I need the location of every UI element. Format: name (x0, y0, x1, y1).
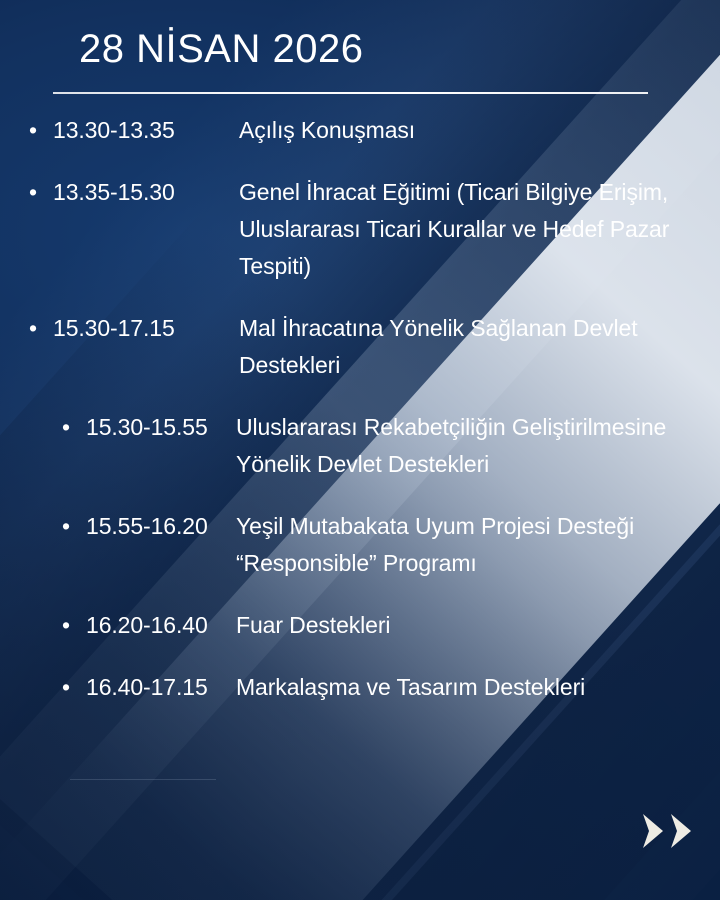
bullet-icon: • (55, 607, 77, 644)
agenda-item: • 15.30-17.15 Mal İhracatına Yönelik Sağ… (0, 310, 720, 384)
agenda-item-description: Markalaşma ve Tasarım Destekleri (236, 669, 720, 706)
agenda-item-description: Uluslararası Rekabetçiliğin Geliştirilme… (236, 409, 720, 483)
agenda-item-time: 15.55-16.20 (86, 508, 236, 545)
bullet-icon: • (55, 508, 77, 545)
double-chevron-right-icon[interactable] (639, 812, 693, 850)
agenda-item-time: 15.30-17.15 (53, 310, 239, 347)
bottom-divider-rule (70, 779, 216, 780)
agenda-item-description: Yeşil Mutabakata Uyum Projesi Desteği “R… (236, 508, 720, 582)
agenda-subitem: • 15.55-16.20 Yeşil Mutabakata Uyum Proj… (0, 508, 720, 582)
agenda-list: • 13.30-13.35 Açılış Konuşması • 13.35-1… (0, 112, 720, 728)
agenda-item-description: Genel İhracat Eğitimi (Ticari Bilgiye Er… (239, 174, 720, 285)
agenda-item-time: 13.30-13.35 (53, 112, 239, 149)
agenda-item: • 13.35-15.30 Genel İhracat Eğitimi (Tic… (0, 174, 720, 285)
bullet-icon: • (55, 669, 77, 706)
agenda-item-description: Açılış Konuşması (239, 112, 720, 149)
slide-content: 28 NİSAN 2026 • 13.30-13.35 Açılış Konuş… (0, 0, 720, 900)
bullet-icon: • (22, 112, 44, 149)
bullet-icon: • (22, 174, 44, 211)
agenda-item-time: 16.20-16.40 (86, 607, 236, 644)
agenda-item-time: 15.30-15.55 (86, 409, 236, 446)
agenda-item-description: Fuar Destekleri (236, 607, 720, 644)
presentation-slide: 28 NİSAN 2026 • 13.30-13.35 Açılış Konuş… (0, 0, 720, 900)
bullet-icon: • (55, 409, 77, 446)
agenda-subitem: • 16.20-16.40 Fuar Destekleri (0, 607, 720, 644)
agenda-item-time: 16.40-17.15 (86, 669, 236, 706)
agenda-item-time: 13.35-15.30 (53, 174, 239, 211)
agenda-subitem: • 15.30-15.55 Uluslararası Rekabetçiliği… (0, 409, 720, 483)
title-underline-rule (53, 92, 648, 94)
agenda-subitem: • 16.40-17.15 Markalaşma ve Tasarım Dest… (0, 669, 720, 706)
agenda-item: • 13.30-13.35 Açılış Konuşması (0, 112, 720, 149)
slide-title: 28 NİSAN 2026 (79, 26, 363, 72)
bullet-icon: • (22, 310, 44, 347)
agenda-item-description: Mal İhracatına Yönelik Sağlanan Devlet D… (239, 310, 720, 384)
